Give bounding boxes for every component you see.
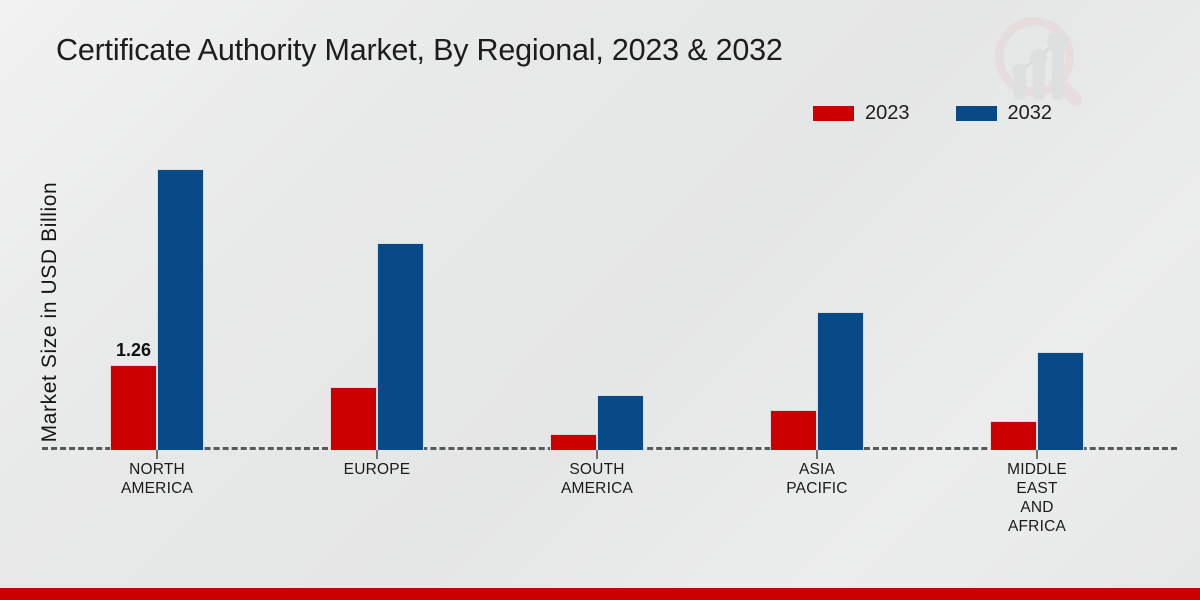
bar-2023[interactable] xyxy=(550,434,597,450)
legend-swatch-2032 xyxy=(956,106,997,121)
chart-legend: 2023 2032 xyxy=(813,103,1052,123)
bar-group: 1.26 xyxy=(110,140,204,450)
x-axis-tick xyxy=(376,450,378,459)
bar-2032[interactable] xyxy=(597,395,644,450)
bar-2023[interactable] xyxy=(330,387,377,450)
x-axis-category-label: NORTHAMERICA xyxy=(82,460,232,498)
x-axis-tick xyxy=(596,450,598,459)
bar-group xyxy=(330,140,424,450)
bar-group xyxy=(550,140,644,450)
chart-container: Certificate Authority Market, By Regiona… xyxy=(0,0,1200,600)
x-axis-tick xyxy=(156,450,158,459)
x-axis-category-label: SOUTHAMERICA xyxy=(522,460,672,498)
legend-item-2023[interactable]: 2023 xyxy=(813,103,910,123)
bar-2023[interactable]: 1.26 xyxy=(110,365,157,450)
legend-label-2032: 2032 xyxy=(1008,103,1053,123)
bar-group xyxy=(990,140,1084,450)
bottom-accent-strip xyxy=(0,588,1200,600)
bar-2032[interactable] xyxy=(157,169,204,450)
bar-2032[interactable] xyxy=(377,243,424,450)
plot-area: 1.26 xyxy=(42,140,1177,450)
watermark-logo-icon xyxy=(985,12,1090,112)
legend-swatch-2023 xyxy=(813,106,854,121)
x-axis-category-label: ASIAPACIFIC xyxy=(742,460,892,498)
bar-2023[interactable] xyxy=(770,410,817,450)
x-axis-category-label: EUROPE xyxy=(302,460,452,479)
legend-item-2032[interactable]: 2032 xyxy=(956,103,1053,123)
bar-2032[interactable] xyxy=(1037,352,1084,450)
bar-2032[interactable] xyxy=(817,312,864,450)
bar-2023[interactable] xyxy=(990,421,1037,450)
x-axis-tick xyxy=(816,450,818,459)
bar-value-label: 1.26 xyxy=(116,340,151,361)
legend-label-2023: 2023 xyxy=(865,103,910,123)
x-axis-category-label: MIDDLEEASTANDAFRICA xyxy=(962,460,1112,536)
chart-title: Certificate Authority Market, By Regiona… xyxy=(56,33,783,68)
x-axis-tick xyxy=(1036,450,1038,459)
bar-group xyxy=(770,140,864,450)
